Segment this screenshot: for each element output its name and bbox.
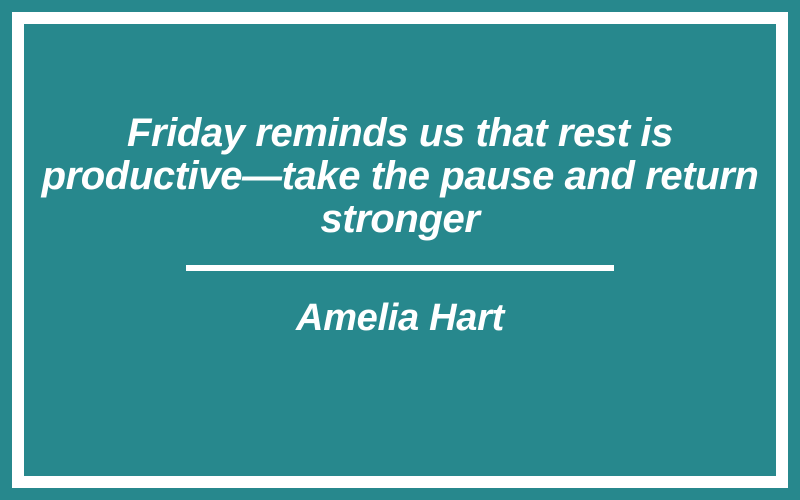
- quote-text: Friday reminds us that rest is productiv…: [24, 112, 776, 241]
- card-content-area: Friday reminds us that rest is productiv…: [24, 24, 776, 476]
- quote-card: Friday reminds us that rest is productiv…: [0, 0, 800, 500]
- card-white-frame: Friday reminds us that rest is productiv…: [12, 12, 788, 488]
- quote-author: Amelia Hart: [296, 297, 504, 339]
- divider-rule: [186, 265, 614, 271]
